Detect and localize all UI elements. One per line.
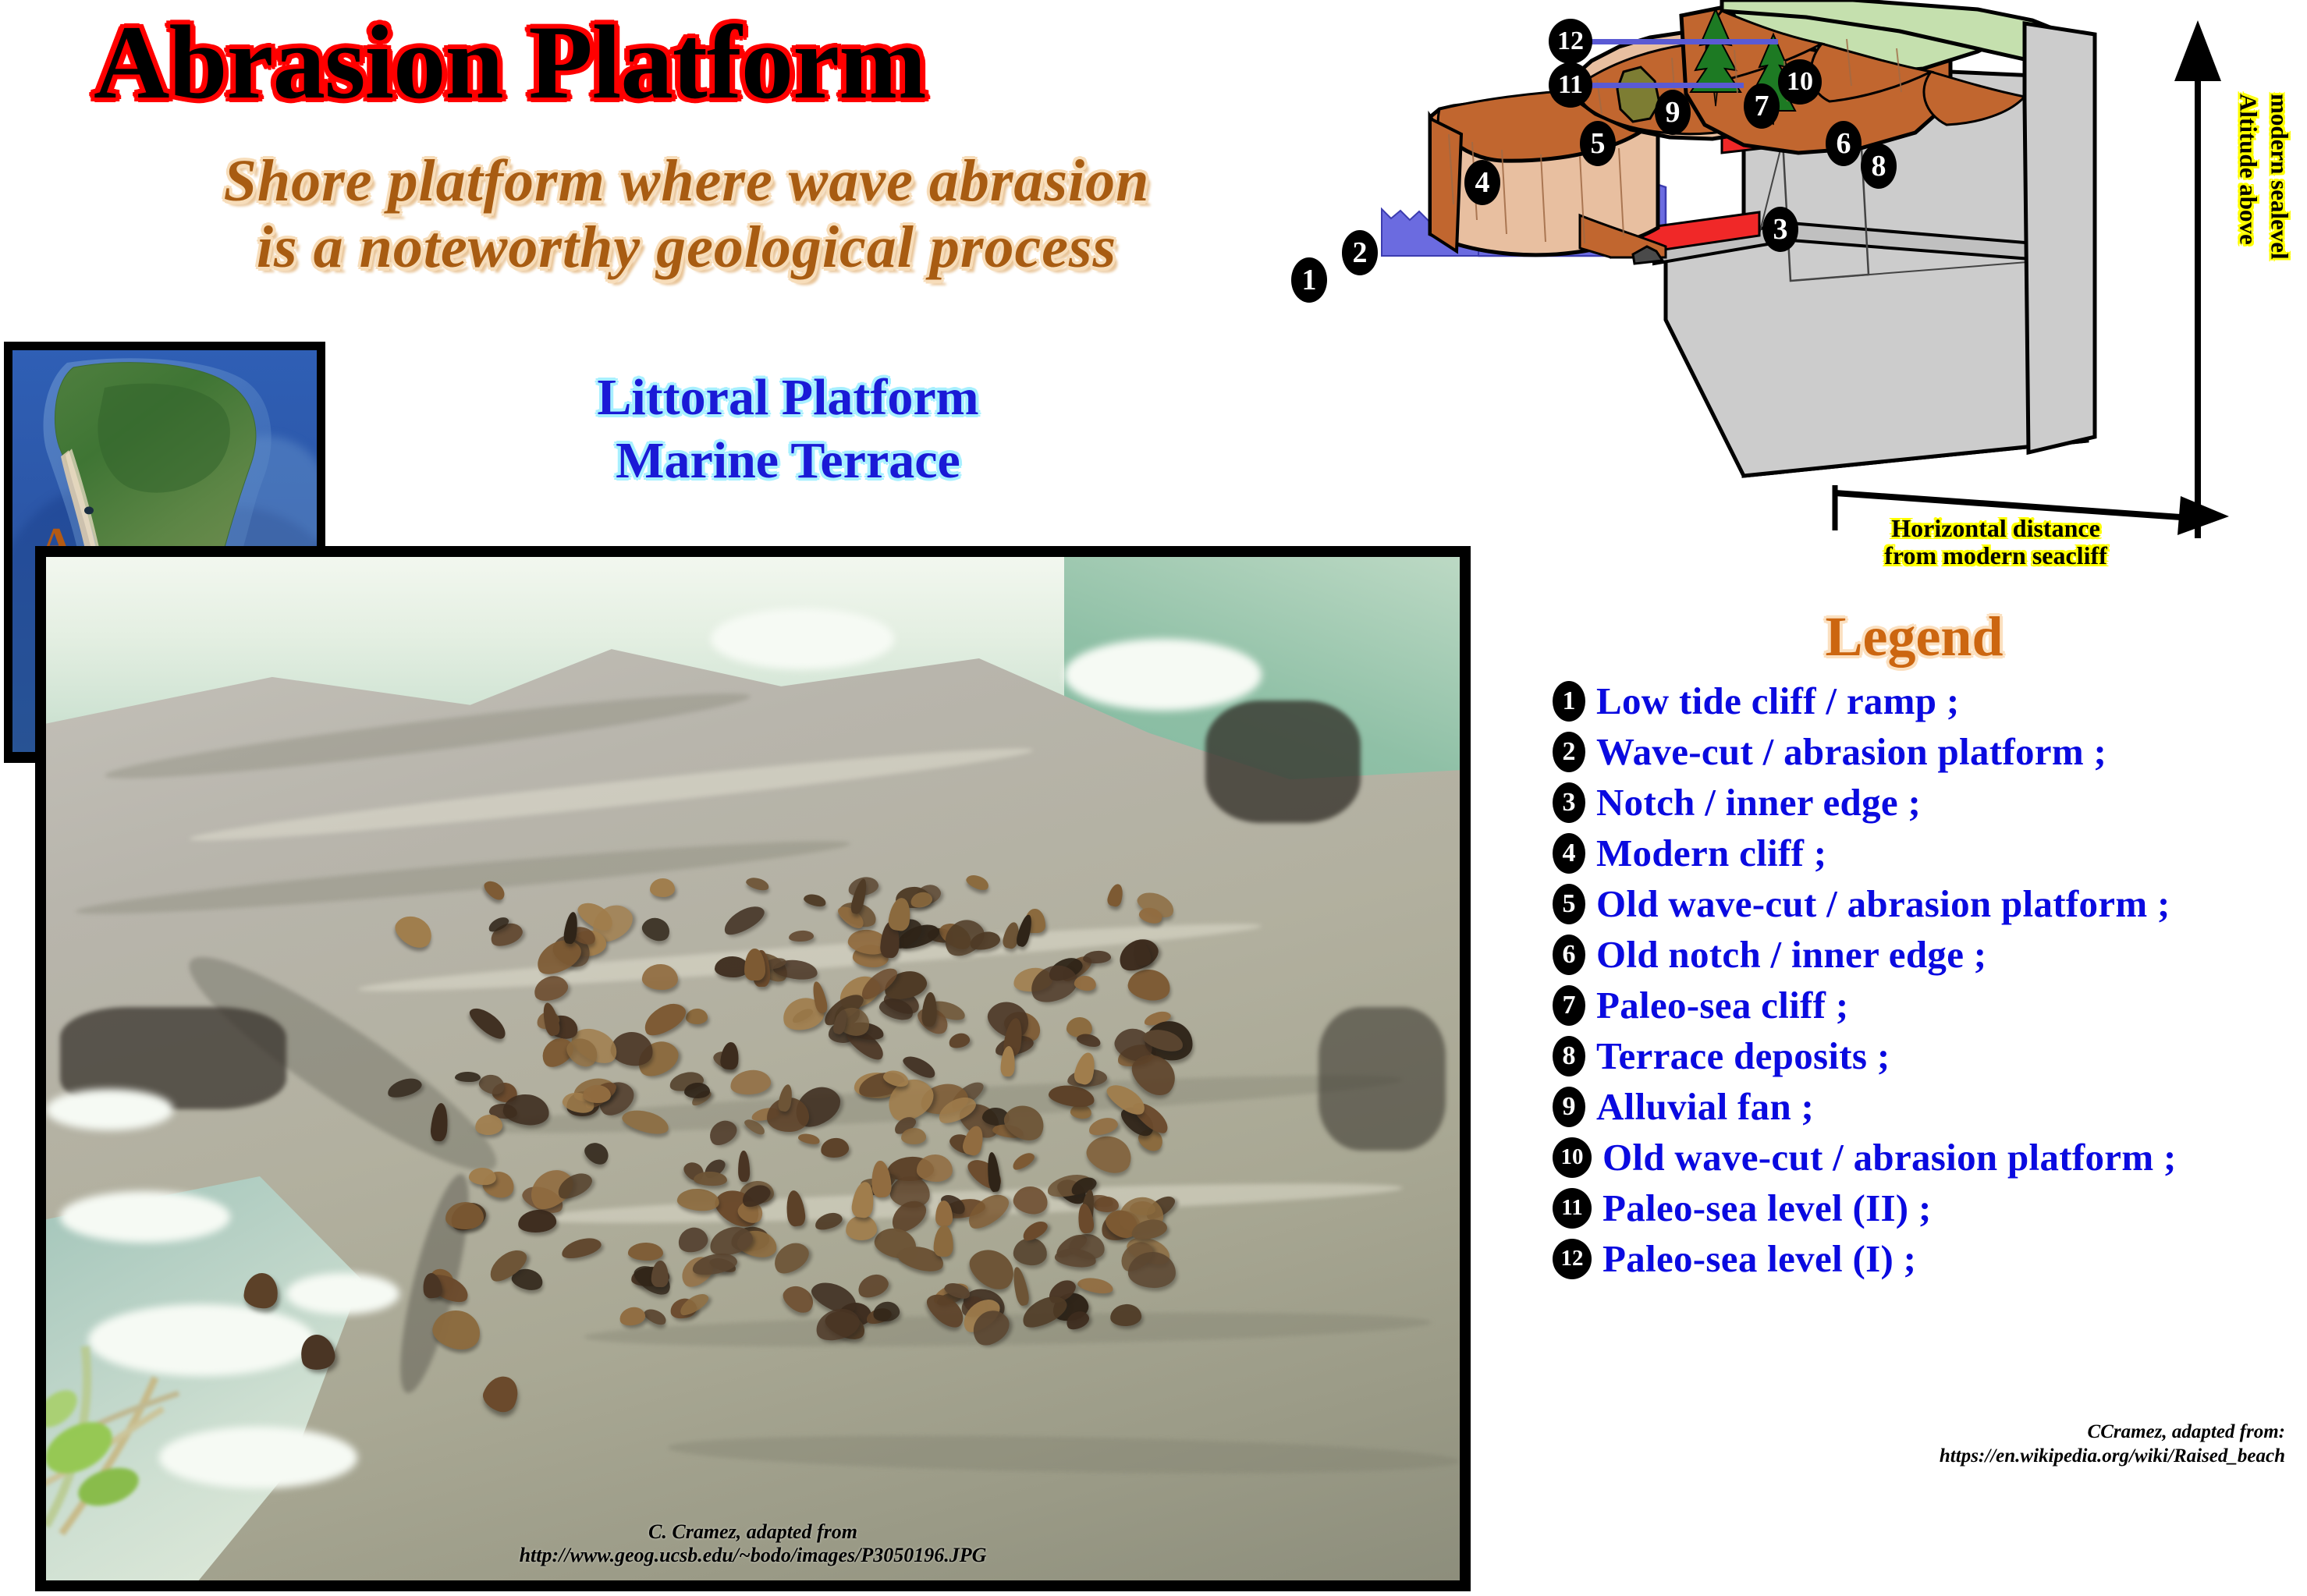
block-diagram-svg: [1244, 0, 2307, 546]
legend-item-label: Alluvial fan ;: [1596, 1084, 1814, 1129]
diagram-callout-7: 7: [1744, 83, 1780, 129]
legend-item-label: Terrace deposits ;: [1596, 1034, 1890, 1078]
legend-number-badge: 2: [1553, 732, 1585, 772]
legend-number-badge: 12: [1553, 1239, 1592, 1279]
axis-label-h-line-1: Horizontal distance: [1832, 515, 2160, 542]
diagram-callout-12: 12: [1549, 19, 1592, 64]
legend-item-label: Old notch / inner edge ;: [1596, 932, 1986, 977]
photo-caption-line-2: http://www.geog.ucsb.edu/~bodo/images/P3…: [46, 1544, 1460, 1568]
legend-number-badge: 4: [1553, 833, 1585, 874]
legend-credit-line-2: https://en.wikipedia.org/wiki/Raised_bea…: [1940, 1444, 2285, 1468]
legend-item-1: 1Low tide cliff / ramp ;: [1521, 676, 2307, 726]
leader-line-11: [1591, 83, 1744, 88]
diagram-callout-1: 1: [1291, 257, 1327, 303]
foreground-vegetation: [46, 1214, 272, 1541]
axis-label-horizontal-distance: Horizontal distance from modern seacliff: [1832, 515, 2160, 569]
legend-panel: Legend 1Low tide cliff / ramp ;2Wave-cut…: [1521, 608, 2307, 1284]
legend-number-badge: 10: [1553, 1137, 1592, 1178]
legend-item-label: Low tide cliff / ramp ;: [1596, 679, 1960, 723]
legend-item-4: 4Modern cliff ;: [1521, 828, 2307, 878]
dark-boulder: [1319, 1007, 1446, 1151]
diagram-callout-3: 3: [1762, 207, 1798, 252]
synonym-list: Littoral Platform Marine Terrace: [437, 367, 1139, 492]
legend-item-2: 2Wave-cut / abrasion platform ;: [1521, 726, 2307, 777]
leader-line-12: [1591, 39, 1778, 44]
legend-item-6: 6Old notch / inner edge ;: [1521, 929, 2307, 980]
subtitle-line-1: Shore platform where wave abrasion: [55, 148, 1319, 215]
surf-foam: [46, 1089, 173, 1130]
legend-number-badge: 11: [1553, 1188, 1592, 1229]
legend-item-label: Paleo-sea level (I) ;: [1602, 1236, 1916, 1281]
photo-caption-line-1: C. Cramez, adapted from: [46, 1520, 1460, 1545]
diagram-callout-4: 4: [1464, 160, 1500, 205]
legend-title: Legend: [1521, 608, 2307, 665]
field-photograph: C. Cramez, adapted from http://www.geog.…: [35, 546, 1471, 1591]
legend-number-badge: 6: [1553, 935, 1585, 975]
legend-item-8: 8Terrace deposits ;: [1521, 1030, 2307, 1081]
legend-number-badge: 8: [1553, 1036, 1585, 1076]
legend-number-badge: 1: [1553, 681, 1585, 722]
legend-number-badge: 3: [1553, 782, 1585, 823]
surf-foam: [711, 608, 895, 670]
surf-foam: [1064, 639, 1262, 711]
subtitle-line-2: is a noteworthy geological process: [55, 215, 1319, 281]
cliff-left-edge: [1430, 119, 1461, 251]
diagram-callout-8: 8: [1861, 144, 1897, 189]
legend-item-label: Paleo-sea cliff ;: [1596, 983, 1848, 1027]
terrace-block-diagram: 1 2 3 4 5 6 7 8 9 10 11 12 Altitude abov…: [1244, 0, 2307, 546]
legend-item-11: 11Paleo-sea level (II) ;: [1521, 1183, 2307, 1233]
lake-titicaca: [84, 506, 94, 514]
legend-item-10: 10Old wave-cut / abrasion platform ;: [1521, 1132, 2307, 1183]
axis-label-h-line-2: from modern seacliff: [1832, 542, 2160, 569]
axis-label-altitude-line-1: Altitude above: [2235, 94, 2261, 245]
legend-item-label: Wave-cut / abrasion platform ;: [1596, 729, 2106, 774]
legend-item-7: 7Paleo-sea cliff ;: [1521, 980, 2307, 1030]
photo-caption: C. Cramez, adapted from http://www.geog.…: [46, 1520, 1460, 1568]
legend-item-3: 3Notch / inner edge ;: [1521, 777, 2307, 828]
diagram-callout-5: 5: [1580, 121, 1616, 166]
diagram-callout-11: 11: [1549, 62, 1592, 108]
legend-item-12: 12Paleo-sea level (I) ;: [1521, 1233, 2307, 1284]
legend-item-5: 5Old wave-cut / abrasion platform ;: [1521, 878, 2307, 929]
legend-credit-line-1: CCramez, adapted from:: [1940, 1420, 2285, 1444]
legend-number-badge: 5: [1553, 884, 1585, 924]
page-title: Abrasion Platform: [94, 8, 1264, 119]
synonym-littoral-platform: Littoral Platform: [437, 367, 1139, 430]
dark-boulder: [1205, 700, 1361, 823]
photo-canvas: C. Cramez, adapted from http://www.geog.…: [46, 557, 1460, 1580]
legend-number-badge: 9: [1553, 1087, 1585, 1127]
legend-number-badge: 7: [1553, 985, 1585, 1026]
legend-credit: CCramez, adapted from: https://en.wikipe…: [1940, 1420, 2285, 1469]
legend-item-label: Old wave-cut / abrasion platform ;: [1596, 881, 2170, 926]
axis-label-altitude-line-2: modern sealevel: [2266, 94, 2292, 260]
diagram-callout-9: 9: [1655, 90, 1691, 135]
page-subtitle: Shore platform where wave abrasion is a …: [55, 148, 1319, 281]
surf-foam: [286, 1273, 399, 1314]
bedrock-front-face: [1666, 234, 2087, 476]
legend-item-9: 9Alluvial fan ;: [1521, 1081, 2307, 1132]
horizontal-axis-arrowhead: [2177, 496, 2229, 535]
vertical-axis-arrowhead: [2174, 20, 2221, 81]
legend-item-label: Modern cliff ;: [1596, 831, 1826, 875]
diagram-callout-6: 6: [1826, 121, 1862, 166]
right-bedrock-wall: [2025, 23, 2095, 452]
synonym-marine-terrace: Marine Terrace: [437, 430, 1139, 493]
legend-item-label: Old wave-cut / abrasion platform ;: [1602, 1135, 2177, 1179]
diagram-callout-2: 2: [1342, 230, 1378, 275]
legend-item-label: Notch / inner edge ;: [1596, 780, 1921, 825]
diagram-callout-10: 10: [1778, 59, 1822, 105]
legend-item-label: Paleo-sea level (II) ;: [1602, 1186, 1932, 1230]
legend-rows: 1Low tide cliff / ramp ;2Wave-cut / abra…: [1521, 676, 2307, 1284]
